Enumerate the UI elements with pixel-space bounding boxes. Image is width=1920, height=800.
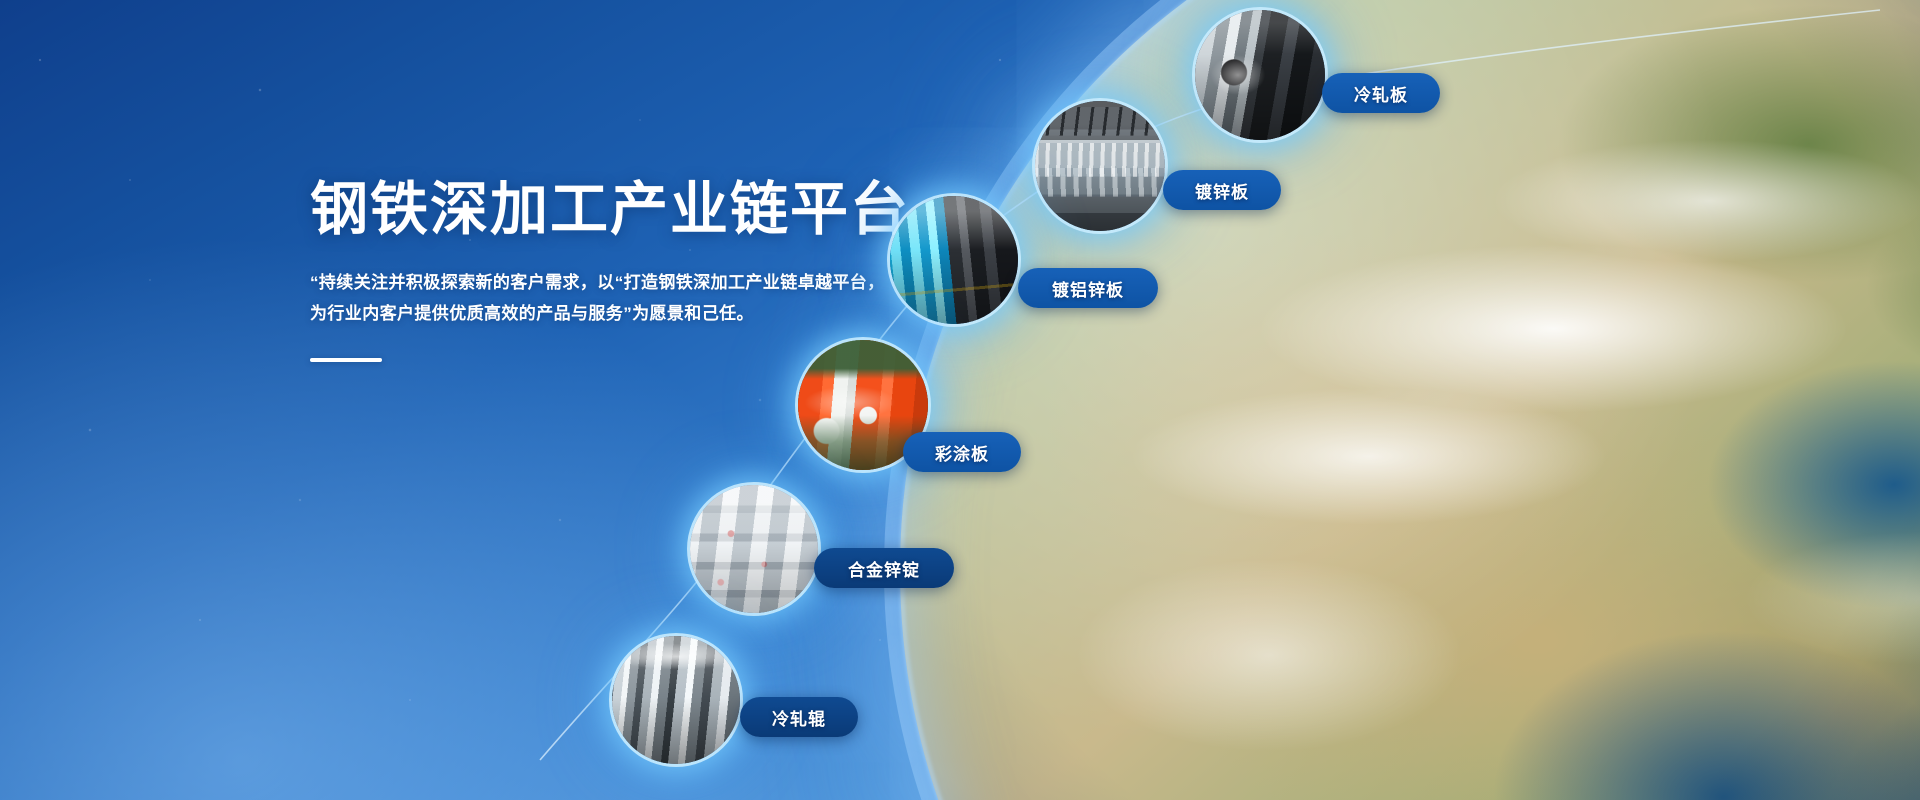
product-chain-connector-line (0, 0, 1920, 800)
product-thumbnail-artwork (690, 485, 818, 613)
product-label-badge[interactable]: 镀铝锌板 (1018, 268, 1158, 308)
headline-block: 钢铁深加工产业链平台 “持续关注并积极探索新的客户需求，以“打造钢铁深加工产业链… (310, 178, 930, 362)
starfield-decoration (0, 0, 1920, 800)
cold-rolling-roll-thumbnail[interactable] (612, 636, 740, 764)
alloy-zinc-ingot-thumbnail[interactable] (690, 485, 818, 613)
page-subtitle: “持续关注并积极探索新的客户需求，以“打造钢铁深加工产业链卓越平台，为行业内客户… (310, 267, 885, 330)
hero-banner: 钢铁深加工产业链平台 “持续关注并积极探索新的客户需求，以“打造钢铁深加工产业链… (0, 0, 1920, 800)
page-title: 钢铁深加工产业链平台 (310, 178, 930, 243)
product-label-badge[interactable]: 彩涂板 (903, 432, 1021, 472)
product-label-badge[interactable]: 合金锌锭 (814, 548, 954, 588)
product-thumbnail-artwork (890, 196, 1018, 324)
aluminized-zinc-plate-thumbnail[interactable] (890, 196, 1018, 324)
product-label-badge[interactable]: 冷轧辊 (740, 697, 858, 737)
product-thumbnail-artwork (1195, 10, 1325, 140)
galvanized-plate-thumbnail[interactable] (1035, 101, 1165, 231)
product-label-badge[interactable]: 镀锌板 (1163, 170, 1281, 210)
cold-rolled-plate-thumbnail[interactable] (1195, 10, 1325, 140)
title-divider-rule (310, 358, 382, 362)
product-thumbnail-artwork (612, 636, 740, 764)
product-label-badge[interactable]: 冷轧板 (1322, 73, 1440, 113)
product-thumbnail-artwork (1035, 101, 1165, 231)
